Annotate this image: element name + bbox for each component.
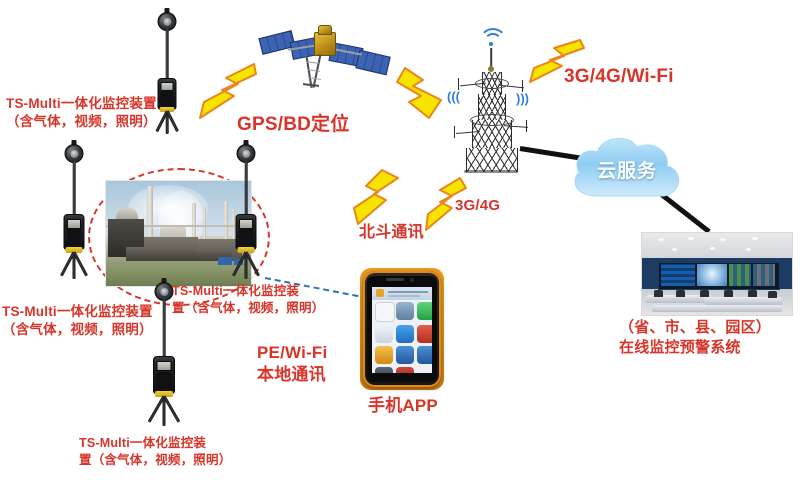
app-icon[interactable]	[375, 367, 393, 373]
wireless-bolt-beidou	[352, 168, 404, 226]
app-icon[interactable]	[375, 325, 393, 343]
rugged-tablet-device[interactable]	[360, 268, 444, 390]
label-3g4g: 3G/4G	[455, 196, 500, 216]
app-icon[interactable]	[417, 302, 432, 320]
app-icon[interactable]	[396, 325, 414, 343]
label-3g4g-wifi: 3G/4G/Wi-Fi	[564, 64, 674, 89]
label-local-comm: PE/Wi-Fi 本地通讯	[257, 342, 327, 387]
satellite-icon	[258, 8, 388, 103]
monitor-device-left	[36, 140, 112, 278]
label-device-top: TS-Multi一体化监控装置 （含气体，视频，照明）	[6, 95, 206, 131]
monitor-device-right	[208, 140, 284, 278]
cloud-label: 云服务	[566, 156, 688, 183]
app-icon[interactable]	[396, 367, 414, 373]
cloud-service-icon: 云服务	[566, 130, 688, 206]
wifi-signal-icon	[484, 33, 502, 51]
app-icon[interactable]	[396, 302, 414, 320]
tablet-camera-icon	[410, 278, 414, 282]
label-device-bottom: TS-Multi一体化监控装 置（含气体，视频，照明）	[79, 435, 249, 468]
control-room-photo	[641, 232, 793, 316]
wireless-bolt-beidou-uplink	[395, 66, 445, 120]
label-device-center: TS-Multi一体化监控装 置（含气体，视频，照明）	[172, 283, 332, 316]
tablet-speaker	[386, 278, 404, 281]
app-icon[interactable]	[417, 346, 432, 364]
app-icon[interactable]	[375, 302, 395, 322]
tablet-screen[interactable]	[372, 287, 432, 373]
app-icon[interactable]	[396, 346, 414, 364]
app-icon[interactable]	[417, 325, 432, 343]
signal-wave-right-icon: )))	[516, 92, 529, 105]
app-icon	[417, 367, 432, 373]
label-gps: GPS/BD定位	[237, 112, 349, 137]
app-icon[interactable]	[375, 346, 393, 364]
diagram-canvas: ((( ))) 云服务	[0, 0, 806, 482]
cell-tower-icon: ((( )))	[448, 22, 534, 180]
label-beidou: 北斗通讯	[359, 222, 424, 243]
signal-wave-left-icon: (((	[447, 90, 460, 103]
label-mobile-app: 手机APP	[368, 395, 438, 417]
app-icon-grid[interactable]	[375, 302, 429, 373]
label-monitoring-center: （省、市、县、园区） 在线监控预警系统	[619, 318, 799, 358]
